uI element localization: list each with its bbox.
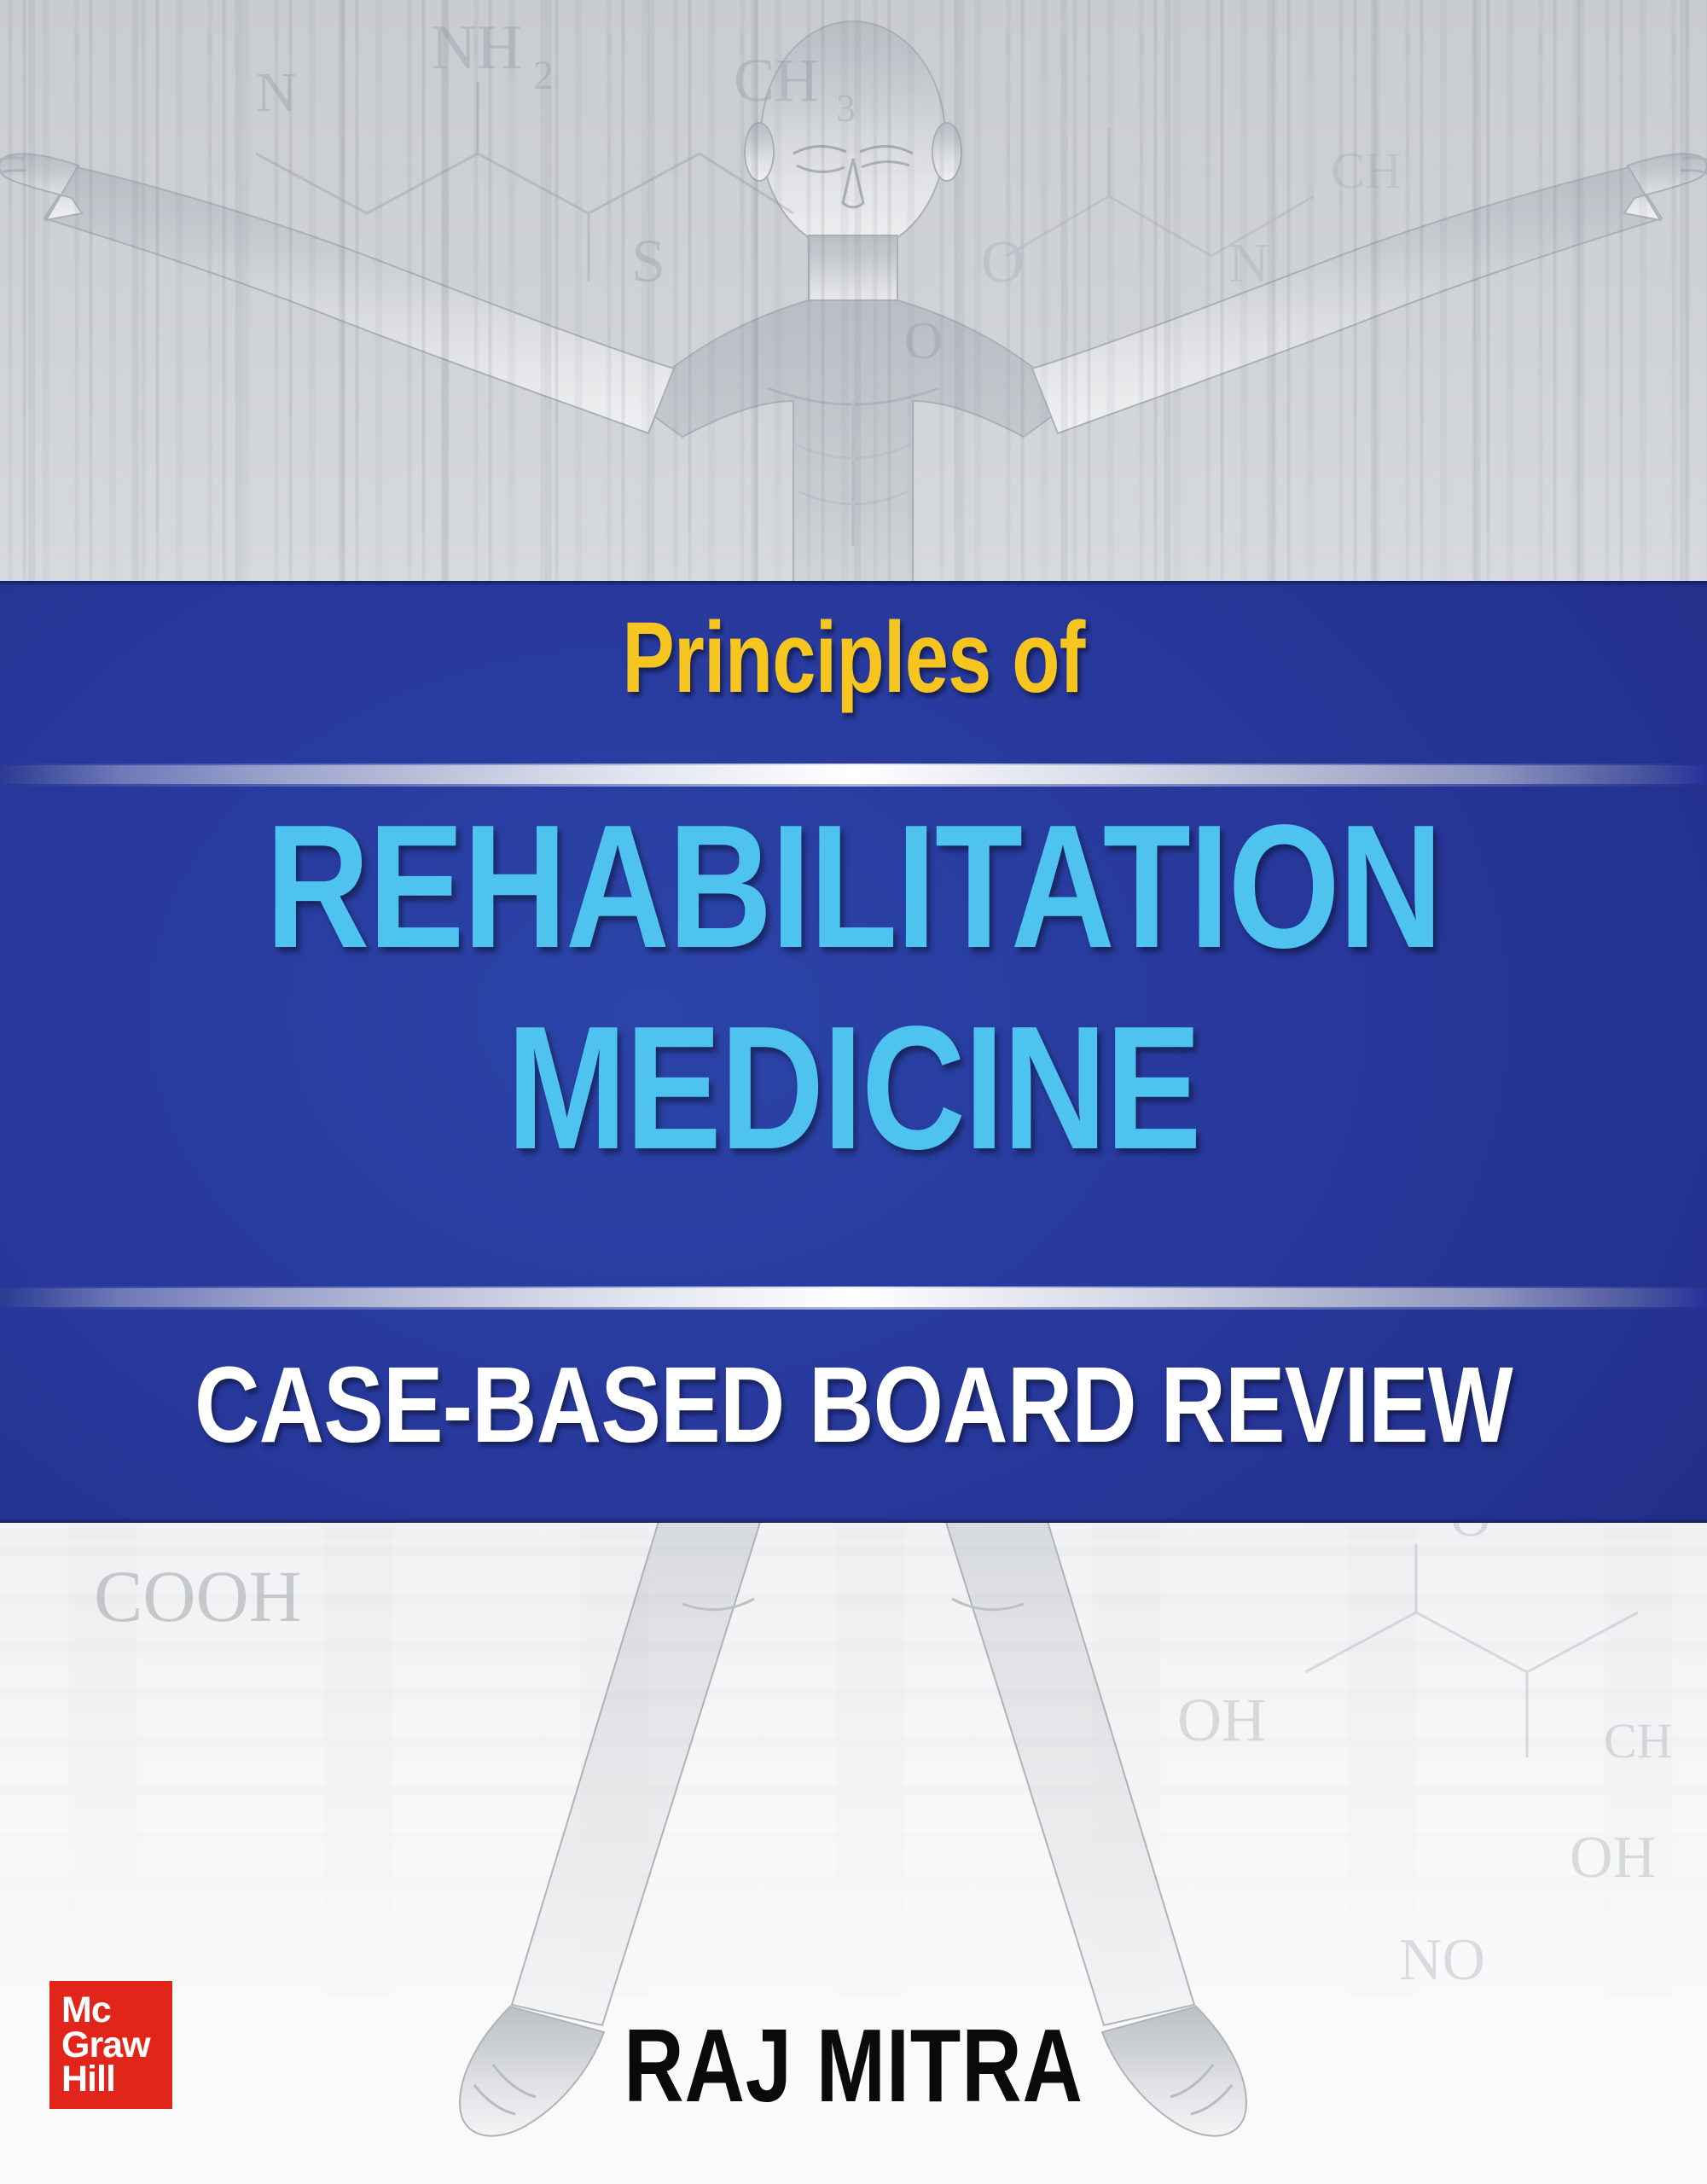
series-label: Principles of [188, 607, 1519, 708]
page-title-line-2: MEDICINE [154, 1000, 1553, 1176]
publisher-logo-mcgraw-hill: Mc Graw Hill [49, 1981, 172, 2109]
divider-bottom [0, 1285, 1707, 1310]
author-name: RAJ MITRA [171, 2013, 1536, 2117]
publisher-logo-line-2: Graw [61, 2028, 172, 2063]
svg-text:CH: CH [1331, 142, 1402, 199]
svg-text:S: S [631, 227, 665, 295]
svg-text:N: N [1228, 232, 1269, 294]
page-subtitle: CASE-BASED BOARD REVIEW [136, 1351, 1571, 1459]
svg-text:OH: OH [1570, 1825, 1656, 1891]
divider-top [0, 762, 1707, 787]
svg-text:CH: CH [1604, 1713, 1673, 1769]
svg-text:COOH: COOH [94, 1555, 302, 1637]
svg-text:NH: NH [431, 13, 522, 83]
svg-text:3: 3 [836, 86, 856, 130]
svg-text:CH: CH [734, 46, 819, 114]
svg-text:O: O [981, 229, 1025, 295]
svg-text:OH: OH [1177, 1686, 1266, 1754]
svg-text:N: N [256, 61, 297, 124]
svg-text:2: 2 [533, 53, 554, 98]
publisher-logo-line-1: Mc [61, 1993, 172, 2028]
svg-text:NO: NO [1399, 1927, 1485, 1993]
book-cover: NH 2 S CH 3 N O O N CH COOH [0, 0, 1707, 2184]
publisher-logo-line-3: Hill [61, 2062, 172, 2097]
svg-text:O: O [904, 312, 943, 370]
page-title-line-1: REHABILITATION [154, 799, 1553, 974]
